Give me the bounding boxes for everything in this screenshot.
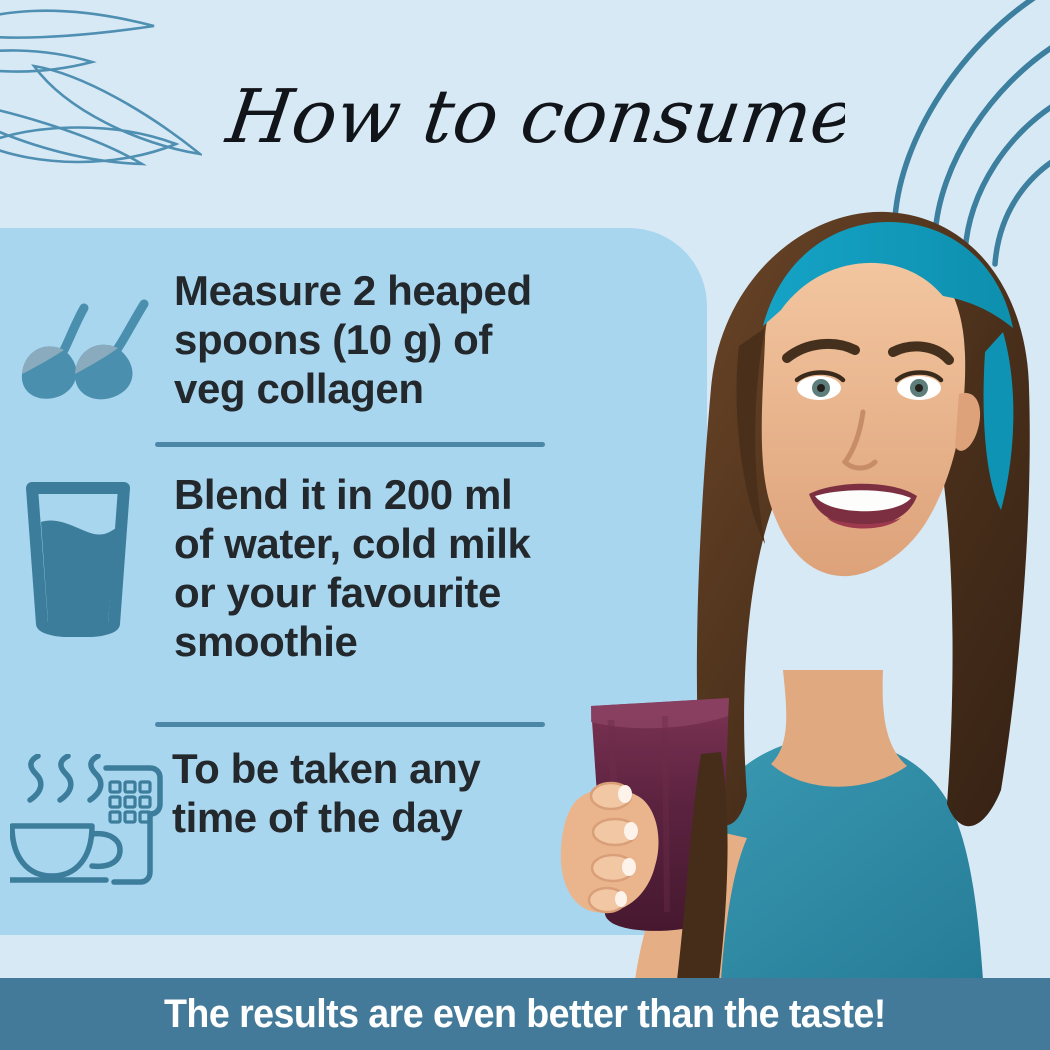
- step-item-2: Blend it in 200 ml of water, cold milk o…: [18, 470, 531, 666]
- step-text-3: To be taken any time of the day: [172, 744, 480, 842]
- divider-1: [155, 442, 545, 447]
- page-title: How to consume?: [0, 62, 1050, 172]
- step-item-3: To be taken any time of the day: [10, 744, 480, 889]
- two-spoons-icon: [18, 266, 158, 406]
- model-photo: [515, 150, 1050, 980]
- step-item-1: Measure 2 heaped spoons (10 g) of veg co…: [18, 266, 532, 413]
- step-text-2: Blend it in 200 ml of water, cold milk o…: [174, 470, 531, 666]
- poster-root: How to consume?: [0, 0, 1050, 1050]
- bottom-banner: The results are even better than the tas…: [0, 978, 1050, 1050]
- divider-2: [155, 722, 545, 727]
- coffee-cup-machine-icon: [10, 744, 160, 889]
- banner-text: The results are even better than the tas…: [164, 992, 886, 1037]
- water-glass-icon: [18, 470, 158, 637]
- step-text-1: Measure 2 heaped spoons (10 g) of veg co…: [174, 266, 532, 413]
- page-title-text: How to consume?: [220, 73, 845, 160]
